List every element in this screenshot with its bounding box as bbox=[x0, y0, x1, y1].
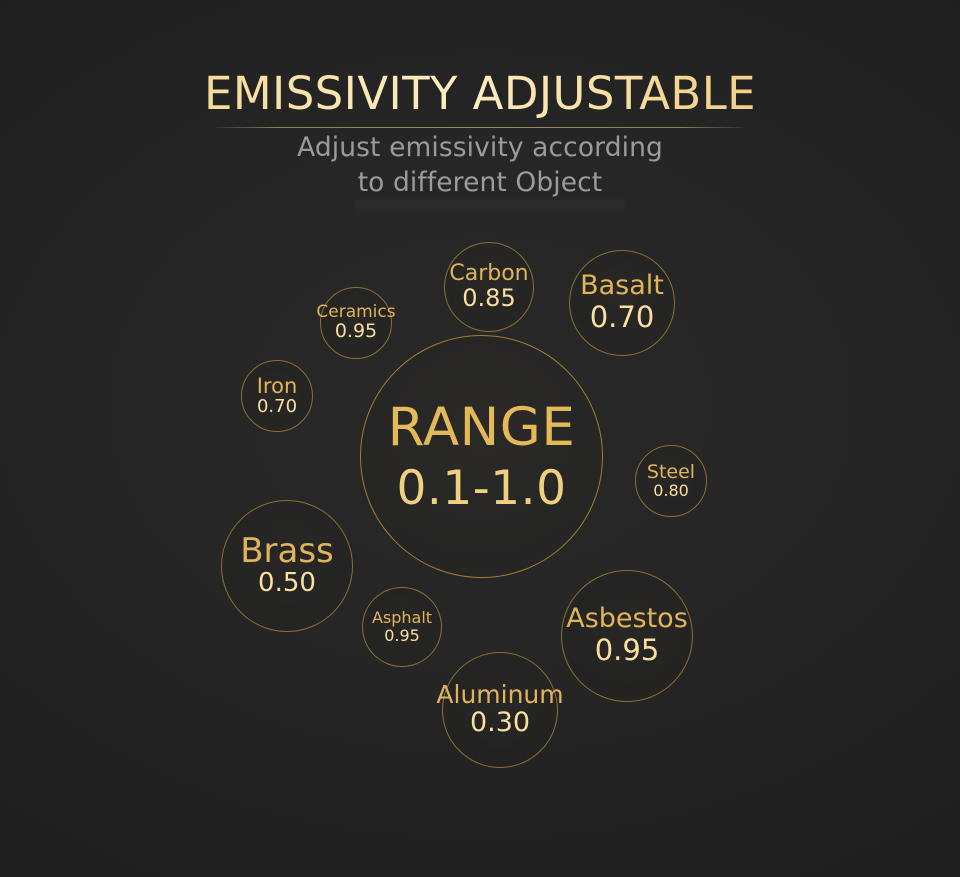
material-emissivity-value: 0.95 bbox=[335, 321, 377, 342]
range-hub: RANGE 0.1-1.0 bbox=[360, 335, 603, 578]
material-emissivity-value: 0.95 bbox=[384, 627, 420, 645]
material-bubble-basalt: Basalt0.70 bbox=[569, 250, 675, 356]
material-bubble-carbon: Carbon0.85 bbox=[444, 242, 534, 332]
material-emissivity-value: 0.70 bbox=[590, 301, 655, 333]
subtitle-reflection bbox=[355, 200, 625, 218]
material-name: Brass bbox=[240, 533, 334, 569]
material-name: Aluminum bbox=[436, 682, 563, 709]
material-emissivity-value: 0.50 bbox=[258, 569, 316, 598]
material-name: Basalt bbox=[580, 272, 664, 301]
material-name: Carbon bbox=[449, 262, 528, 285]
material-name: Asbestos bbox=[566, 605, 688, 634]
title-divider bbox=[216, 127, 743, 128]
page-title: EMISSIVITY ADJUSTABLE bbox=[0, 63, 960, 125]
subtitle-line-2: to different Object bbox=[0, 165, 960, 200]
material-name: Ceramics bbox=[316, 303, 395, 321]
material-bubble-brass: Brass0.50 bbox=[221, 500, 353, 632]
material-bubble-steel: Steel0.80 bbox=[635, 445, 707, 517]
subtitle-line-1: Adjust emissivity according bbox=[0, 130, 960, 165]
material-bubble-asphalt: Asphalt0.95 bbox=[362, 587, 442, 667]
material-bubble-ceramics: Ceramics0.95 bbox=[320, 287, 392, 359]
infographic-canvas: EMISSIVITY ADJUSTABLE Adjust emissivity … bbox=[0, 0, 960, 877]
page-subtitle: Adjust emissivity according to different… bbox=[0, 130, 960, 200]
material-bubble-aluminum: Aluminum0.30 bbox=[442, 652, 558, 768]
material-name: Steel bbox=[647, 462, 695, 482]
material-name: Iron bbox=[257, 375, 298, 397]
material-emissivity-value: 0.95 bbox=[595, 634, 660, 666]
range-hub-value: 0.1-1.0 bbox=[397, 462, 567, 516]
material-name: Asphalt bbox=[372, 610, 432, 627]
material-emissivity-value: 0.30 bbox=[470, 708, 530, 738]
material-emissivity-value: 0.70 bbox=[257, 397, 297, 417]
material-bubble-asbestos: Asbestos0.95 bbox=[561, 570, 693, 702]
material-bubble-iron: Iron0.70 bbox=[241, 360, 313, 432]
range-hub-label: RANGE bbox=[388, 398, 576, 458]
material-emissivity-value: 0.80 bbox=[653, 482, 689, 500]
material-emissivity-value: 0.85 bbox=[462, 285, 515, 312]
